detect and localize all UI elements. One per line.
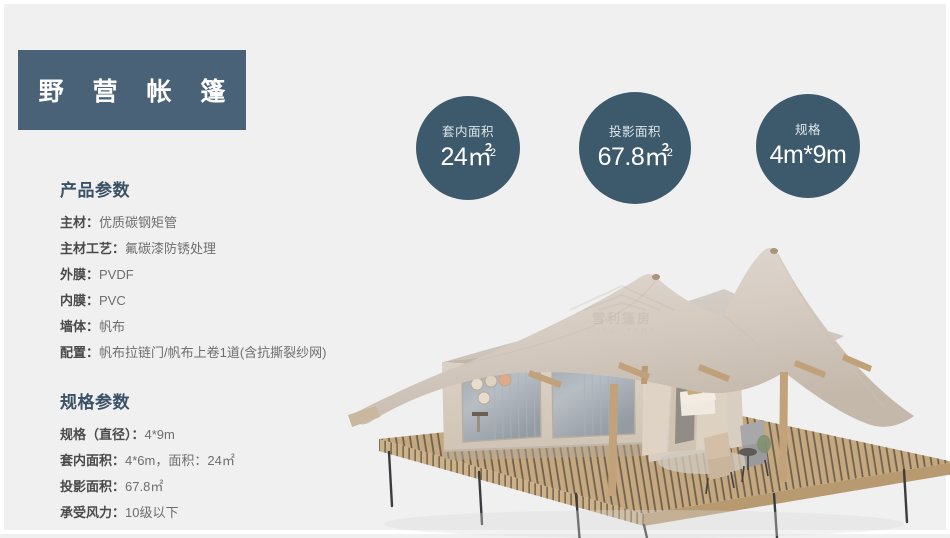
spec-row: 投影面积：67.8㎡ — [60, 474, 390, 500]
spec-value: 67.8㎡ — [125, 479, 163, 494]
section-heading-product: 产品参数 — [60, 176, 390, 201]
spec-label: 主材工艺： — [60, 241, 125, 256]
stat-badge-value: 67.8㎡2 — [598, 145, 673, 170]
tent-product-image: 雪利篷房 XUELI TENT — [344, 194, 950, 538]
stat-badge-caption: 投影面积 — [609, 126, 661, 139]
spec-list-dimensions: 规格（直径）：4*9m 套内面积：4*6m，面积：24㎡ 投影面积：67.8㎡ … — [60, 422, 390, 526]
spec-value: PVC — [99, 293, 126, 308]
spec-value: 帆布拉链门/帆布上卷1道(含抗撕裂纱网) — [99, 345, 327, 360]
stat-badge-caption: 套内面积 — [442, 126, 494, 139]
page-root: 野 营 帐 篷 套内面积 24㎡2 投影面积 67.8㎡2 规格 4m*9m 产… — [0, 0, 950, 534]
stat-badge-value: 4m*9m — [770, 143, 847, 168]
spec-group-product: 产品参数 主材：优质碳钢矩管 主材工艺：氟碳漆防锈处理 外膜：PVDF 内膜：P… — [60, 176, 390, 366]
spec-label: 配置： — [60, 345, 99, 360]
spec-value: 优质碳钢矩管 — [99, 215, 177, 230]
section-heading-dimensions: 规格参数 — [60, 388, 390, 413]
spec-label: 投影面积： — [60, 479, 125, 494]
spec-label: 主材： — [60, 215, 99, 230]
spec-value: 4*6m，面积：24㎡ — [125, 453, 235, 468]
spec-value: PVDF — [99, 267, 134, 282]
spec-value: 帆布 — [99, 319, 125, 334]
stat-badge-dimensions: 规格 4m*9m — [756, 94, 860, 198]
spec-row: 外膜：PVDF — [60, 262, 390, 288]
spec-label: 外膜： — [60, 267, 99, 282]
spec-row: 套内面积：4*6m，面积：24㎡ — [60, 448, 390, 474]
spec-value: 10级以下 — [125, 505, 178, 520]
stat-value-unit: ㎡ — [467, 143, 492, 171]
stat-badge-projected-area: 投影面积 67.8㎡2 — [579, 92, 691, 204]
page-title: 野 营 帐 篷 — [28, 72, 237, 108]
spec-row: 主材工艺：氟碳漆防锈处理 — [60, 236, 390, 262]
stat-badge-interior-area: 套内面积 24㎡2 — [416, 96, 520, 200]
spec-label: 承受风力： — [60, 505, 125, 520]
spec-row: 内膜：PVC — [60, 288, 390, 314]
spec-group-dimensions: 规格参数 规格（直径）：4*9m 套内面积：4*6m，面积：24㎡ 投影面积：6… — [60, 388, 390, 526]
stat-value-superscript: 2 — [667, 147, 673, 159]
stat-value-superscript: 2 — [490, 147, 496, 159]
spec-row: 规格（直径）：4*9m — [60, 422, 390, 448]
spec-row: 配置：帆布拉链门/帆布上卷1道(含抗撕裂纱网) — [60, 340, 390, 366]
spec-value: 氟碳漆防锈处理 — [125, 241, 216, 256]
spec-row: 承受风力：10级以下 — [60, 500, 390, 526]
stat-value-number: 4m*9m — [770, 141, 847, 169]
spec-label: 墙体： — [60, 319, 99, 334]
stat-badge-caption: 规格 — [795, 124, 821, 137]
spec-label: 套内面积： — [60, 453, 125, 468]
spec-value: 4*9m — [145, 427, 175, 442]
stat-value-unit: ㎡ — [644, 143, 669, 171]
spec-list-product: 主材：优质碳钢矩管 主材工艺：氟碳漆防锈处理 外膜：PVDF 内膜：PVC 墙体… — [60, 210, 390, 366]
spec-row: 主材：优质碳钢矩管 — [60, 210, 390, 236]
stat-value-number: 24 — [441, 143, 468, 171]
spec-label: 内膜： — [60, 293, 99, 308]
stat-value-number: 67.8 — [598, 143, 645, 171]
page-title-banner: 野 营 帐 篷 — [18, 50, 246, 130]
specification-column: 产品参数 主材：优质碳钢矩管 主材工艺：氟碳漆防锈处理 外膜：PVDF 内膜：P… — [60, 176, 390, 526]
stat-badge-value: 24㎡2 — [441, 145, 496, 170]
spec-label: 规格（直径）： — [60, 427, 145, 442]
spec-row: 墙体：帆布 — [60, 314, 390, 340]
